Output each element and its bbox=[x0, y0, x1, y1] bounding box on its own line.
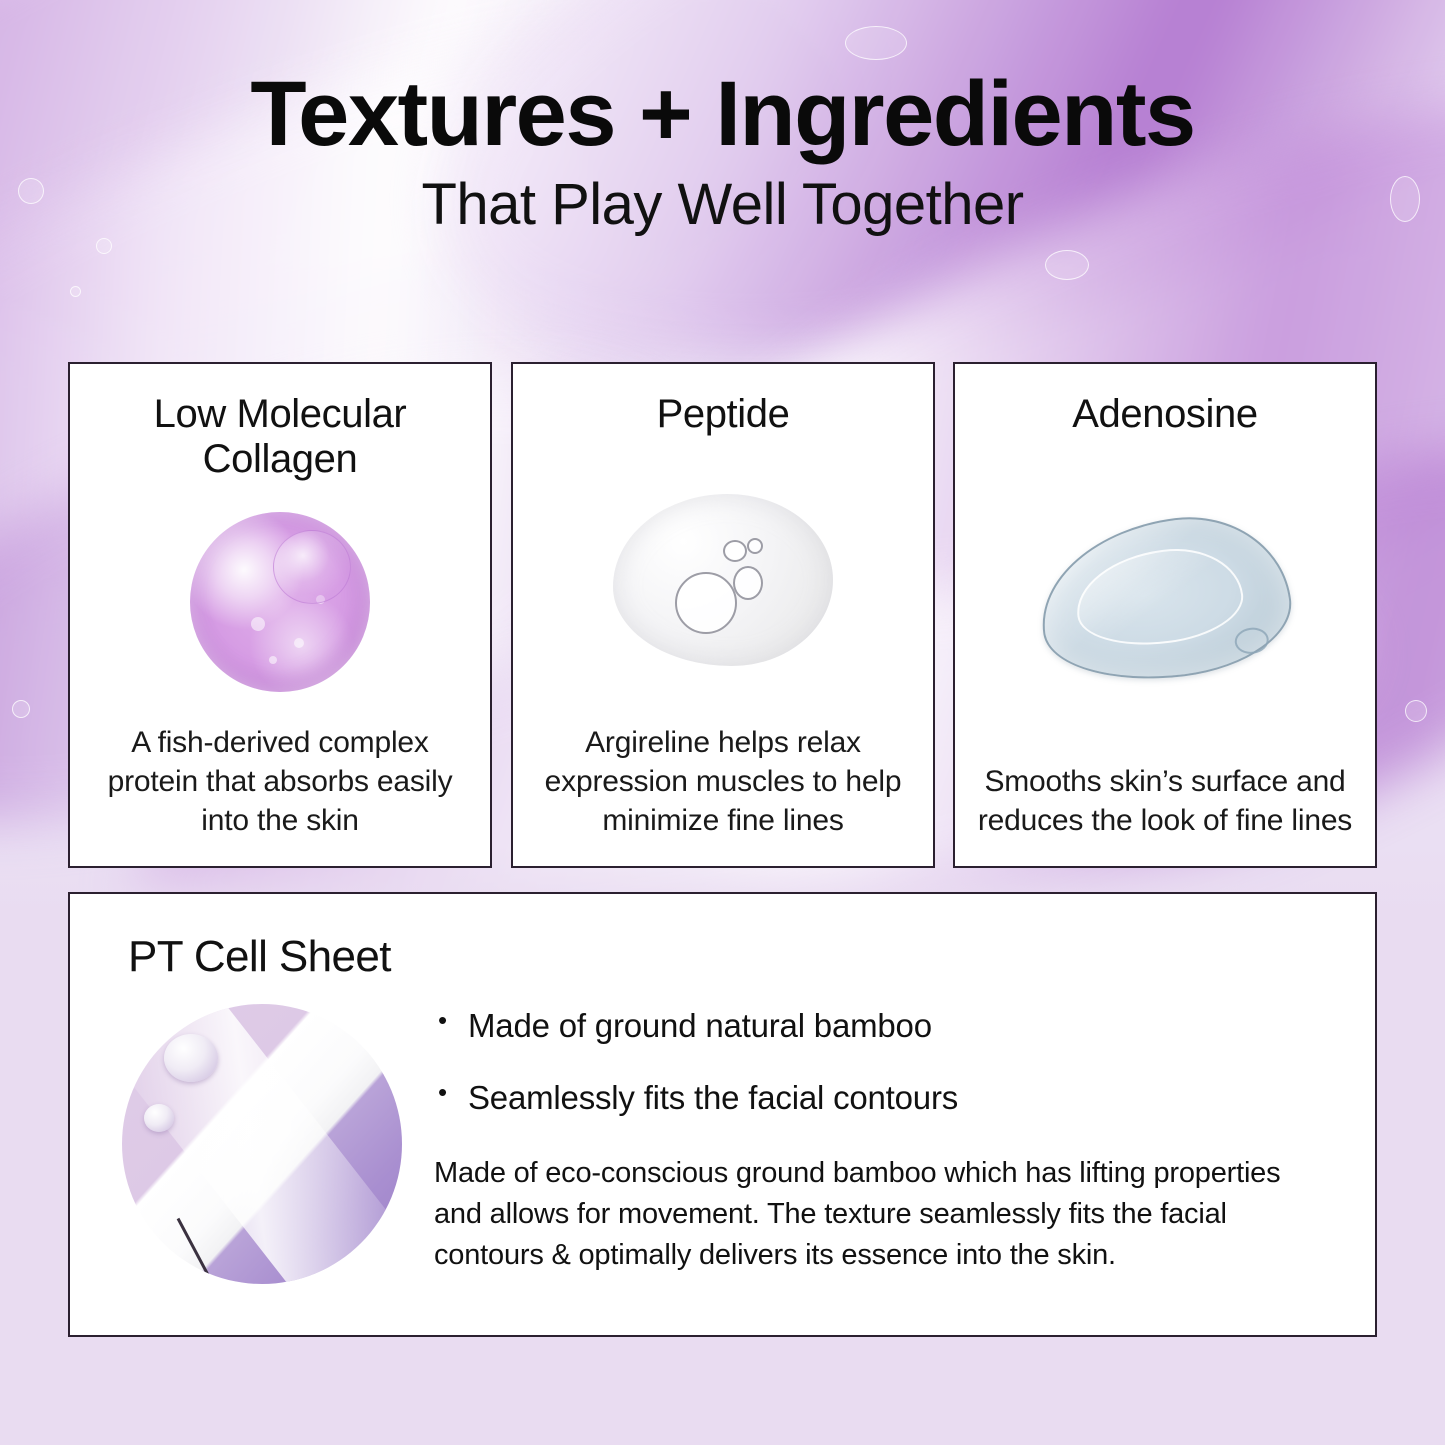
ingredient-description: A fish-derived complex protein that abso… bbox=[70, 723, 490, 866]
essence-droplet-bead bbox=[144, 1104, 174, 1132]
bubble-speck bbox=[269, 656, 277, 664]
bubble-speck bbox=[251, 617, 265, 631]
gel-bubble-large bbox=[675, 572, 737, 634]
ingredient-description: Smooths skin’s surface and reduces the l… bbox=[955, 762, 1375, 866]
bubble-speck bbox=[294, 638, 304, 648]
pt-cell-sheet-card: PT Cell Sheet Made of ground natural bam… bbox=[68, 892, 1377, 1337]
ingredient-art-peptide-blob bbox=[513, 437, 933, 723]
list-item: Made of ground natural bamboo bbox=[434, 1008, 1331, 1044]
ingredient-art-collagen-bubble bbox=[70, 482, 490, 723]
collagen-bubble-icon bbox=[190, 512, 370, 692]
page-subtitle: That Play Well Together bbox=[0, 176, 1445, 234]
ingredient-card-adenosine: Adenosine Smooths skin’s surface and red… bbox=[953, 362, 1377, 868]
pt-cell-sheet-title: PT Cell Sheet bbox=[70, 894, 1375, 982]
gel-bubble-small bbox=[723, 540, 747, 562]
peptide-gel-blob-icon bbox=[613, 494, 833, 666]
pt-cell-sheet-body: Made of ground natural bamboo Seamlessly… bbox=[70, 982, 1375, 1284]
gel-bubble-dot bbox=[96, 238, 112, 254]
gel-bubble-dot bbox=[70, 286, 81, 297]
ingredient-title: Adenosine bbox=[1054, 364, 1275, 437]
gel-bubble-tiny bbox=[747, 538, 763, 554]
ingredient-title: Peptide bbox=[639, 364, 808, 437]
gel-bubble-dot bbox=[1045, 250, 1089, 280]
ingredient-description: Argireline helps relax expression muscle… bbox=[513, 723, 933, 866]
pt-cell-sheet-bullet-list: Made of ground natural bamboo Seamlessly… bbox=[434, 1008, 1331, 1117]
ingredient-art-adenosine-drop bbox=[955, 437, 1375, 762]
pt-cell-sheet-paragraph: Made of eco-conscious ground bamboo whic… bbox=[434, 1153, 1331, 1277]
page-header: Textures + Ingredients That Play Well To… bbox=[0, 0, 1445, 234]
essence-droplet-bead bbox=[164, 1034, 218, 1082]
bubble-speck bbox=[316, 595, 325, 604]
gel-bubble-dot bbox=[1405, 700, 1427, 722]
pt-cell-sheet-photo bbox=[122, 1004, 402, 1284]
gel-bubble-dot bbox=[12, 700, 30, 718]
page-title: Textures + Ingredients bbox=[0, 68, 1445, 160]
ingredient-title: Low MolecularCollagen bbox=[136, 364, 425, 482]
adenosine-gel-teardrop-icon bbox=[1031, 506, 1298, 693]
pt-cell-sheet-text: Made of ground natural bamboo Seamlessly… bbox=[434, 1004, 1331, 1284]
list-item: Seamlessly fits the facial contours bbox=[434, 1080, 1331, 1116]
gel-bubble-medium bbox=[733, 566, 763, 600]
ingredient-card-collagen: Low MolecularCollagen A fish-derived com… bbox=[68, 362, 492, 868]
sheet-edge-line bbox=[177, 1218, 211, 1278]
sheet-sheen bbox=[122, 1004, 402, 1284]
ingredient-card-peptide: Peptide Argireline helps relax expressio… bbox=[511, 362, 935, 868]
